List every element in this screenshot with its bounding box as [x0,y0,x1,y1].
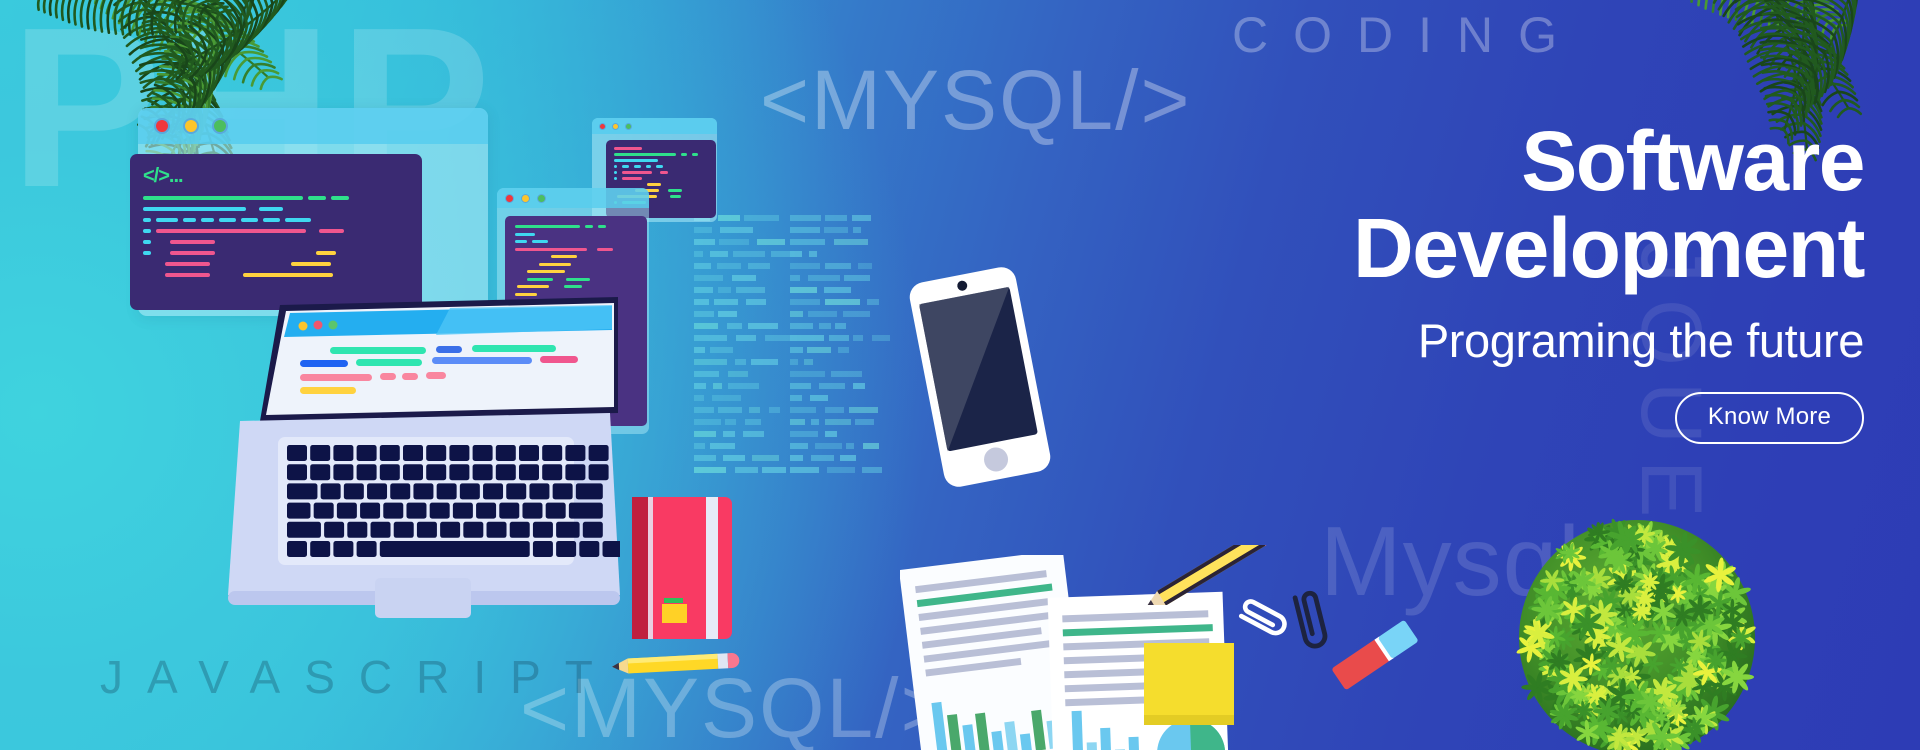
code-segment [634,165,641,168]
laptop-key [589,464,609,480]
laptop-trackpad [375,578,471,618]
pencil-lead [612,663,619,671]
code-matrix-cell [852,215,871,221]
page-title: Software Development [1164,118,1864,293]
laptop-key [371,522,391,538]
code-matrix-cell [723,455,745,461]
laptop-key [390,483,410,499]
laptop-key [357,445,377,461]
know-more-button[interactable]: Know More [1675,392,1864,444]
window-title-bar-medium [497,188,649,208]
hero-text-block: Software Development Programing the futu… [1164,118,1864,444]
code-matrix-cell [790,359,798,365]
code-segment [201,218,214,222]
laptop-key [449,464,469,480]
code-matrix-cell [872,335,890,341]
laptop-code-line [540,356,578,363]
code-matrix-cell [840,455,856,461]
code-matrix-cell [790,443,808,449]
laptop-key [542,464,562,480]
code-segment [143,196,303,200]
code-matrix-cell [710,251,728,257]
laptop-key [287,483,317,499]
sticky-note [1144,643,1234,725]
code-line [143,262,409,266]
notebook-sticker-green [664,598,683,603]
code-matrix-cell [790,263,820,269]
code-segment [241,218,258,222]
code-matrix-cell [694,395,704,401]
code-segment [331,196,349,200]
code-matrix-cell [790,395,802,401]
code-matrix-cell [712,395,741,401]
laptop-key [449,445,469,461]
watermark-mysql-top: <MYSQL/> [760,52,1192,149]
code-matrix-cell [728,371,748,377]
code-segment [614,159,658,162]
laptop-key [483,483,503,499]
laptop-key [460,483,480,499]
code-segment [259,207,283,211]
code-matrix-cell [819,383,845,389]
code-matrix-cell [829,335,849,341]
watermark-coding: CODING [1232,6,1582,64]
code-line [614,153,708,156]
code-matrix-cell [746,299,766,305]
code-segment [156,229,306,233]
code-matrix-cell [825,407,844,413]
code-matrix-cell [855,419,874,425]
laptop-key [529,483,549,499]
code-matrix-cell [853,335,863,341]
watermark-javascript: JAVASCRIPT [100,650,617,704]
maximize-icon[interactable] [625,123,632,130]
document-bar [1100,728,1111,750]
code-line [515,233,637,236]
laptop-key [556,522,579,538]
code-matrix-cell [825,431,837,437]
minimize-icon[interactable] [521,194,530,203]
code-line [143,240,409,244]
code-matrix-cell [809,251,817,257]
code-line [143,207,409,211]
laptop-dot-yellow [299,322,308,331]
bush-illustration [1515,518,1765,750]
code-matrix-cell [748,263,770,269]
close-icon[interactable] [599,123,606,130]
laptop-key [487,522,507,538]
laptop-key [510,522,530,538]
code-matrix-cell [728,383,759,389]
laptop-key [394,522,414,538]
code-matrix-cell [827,467,855,473]
code-segment [143,240,151,244]
code-segment [614,153,676,156]
code-segment [670,195,681,198]
laptop-key [437,483,457,499]
laptop-key [496,464,516,480]
laptop-key [357,541,377,557]
code-segment [308,196,326,200]
laptop-key [496,445,516,461]
code-matrix-cell [790,335,824,341]
code-segment [668,189,682,192]
code-matrix-cell [727,323,742,329]
code-matrix-cell [790,275,800,281]
code-matrix-cell [790,215,821,221]
code-matrix-cell [732,275,756,281]
window-title-bar-small [592,118,717,134]
laptop-key [473,464,493,480]
code-matrix-cell [825,263,851,269]
code-line [515,278,637,281]
code-line [614,159,708,162]
code-segment [285,218,311,222]
code-matrix-cell [849,407,878,413]
code-matrix-cell [714,299,738,305]
code-segment [646,165,651,168]
laptop-key [287,503,310,519]
code-matrix-cell [862,467,882,473]
code-matrix-cell [790,323,813,329]
laptop-key [347,522,367,538]
laptop-dot-green [329,321,338,330]
laptop-key [533,541,553,557]
code-matrix-cell [694,227,712,233]
laptop-key [476,503,496,519]
minimize-icon[interactable] [183,118,199,134]
code-line [143,273,409,277]
code-matrix-cell [824,227,848,233]
code-segment [551,255,577,258]
laptop-key [453,503,473,519]
laptop-code-line [330,347,426,354]
code-matrix-cell [710,443,735,449]
code-matrix-cell [694,467,726,473]
code-matrix-cell [790,299,820,305]
laptop-dot-red [314,321,323,330]
code-segment [143,218,151,222]
notebook-spine [632,497,648,639]
code-matrix-cell [810,395,828,401]
code-matrix-cell [694,443,705,449]
laptop-key [426,464,446,480]
code-matrix-cell [834,239,868,245]
code-segment [515,233,535,236]
code-matrix-cell [790,347,803,353]
code-matrix-cell [771,251,795,257]
code-line [143,196,409,200]
laptop-key [499,503,519,519]
palm-leaf [162,0,313,79]
laptop-key [430,503,450,519]
code-matrix-cell [710,347,733,353]
code-line [614,183,708,186]
eraser-illustration [1325,620,1425,690]
code-segment [585,225,593,228]
code-matrix-cell [853,227,861,233]
palm-leaf [1586,0,1784,27]
code-matrix-cell [694,347,705,353]
code-segment [527,278,553,281]
code-matrix-cell [743,431,764,437]
code-matrix-cell [735,359,746,365]
code-matrix-cell [790,431,818,437]
code-matrix-cell [733,251,765,257]
code-matrix-cell [790,287,817,293]
code-line [515,285,637,288]
code-line [515,248,637,251]
code-segment [598,225,606,228]
code-matrix-cell [790,407,816,413]
laptop-key [546,503,566,519]
code-matrix-cell [844,275,870,281]
laptop-key [589,445,609,461]
smartphone-illustration [900,265,1060,490]
code-segment [165,262,210,266]
code-matrix-cell [718,215,740,221]
code-matrix-cell [736,287,765,293]
laptop-key [287,541,307,557]
laptop-key [522,503,542,519]
laptop-key [333,464,353,480]
code-matrix-cell [694,419,721,425]
laptop-code-line [436,346,462,353]
code-matrix-cell [811,419,819,425]
code-matrix-cell [736,335,756,341]
code-matrix-cell [804,359,813,365]
code-window-main[interactable]: </>... [138,108,488,316]
laptop-key [579,541,599,557]
code-matrix-cell [762,467,786,473]
minimize-icon[interactable] [612,123,619,130]
laptop-key [380,464,400,480]
code-matrix-cell [808,311,837,317]
code-line [515,240,637,243]
laptop-key [519,445,539,461]
code-matrix-cell [694,263,711,269]
palm-leaf [1633,0,1850,106]
code-glyph: </>... [143,166,409,186]
code-segment [614,171,617,174]
code-line [515,270,637,273]
close-icon[interactable] [505,194,514,203]
window-title-bar [138,108,488,144]
code-matrix-cell [790,239,825,245]
laptop-code-line [300,360,348,367]
laptop-key [360,503,380,519]
code-segment [660,171,668,174]
code-matrix-cell [718,407,742,413]
code-matrix-cell [694,371,719,377]
code-matrix-cell [769,407,780,413]
code-line [614,177,708,180]
code-segment [647,183,661,186]
code-editor-area: </>... [130,154,422,310]
laptop-key [569,503,603,519]
maximize-icon[interactable] [212,118,228,134]
laptop-key [556,541,576,557]
code-segment [622,177,642,180]
laptop-key [403,445,423,461]
code-matrix-cell [790,383,811,389]
code-segment [219,218,236,222]
laptop-key [426,445,446,461]
laptop-key [413,483,433,499]
code-line [143,218,409,222]
paperclip-dark-icon [1295,592,1327,648]
code-matrix-cell [825,419,851,425]
code-line [515,263,637,266]
code-segment [566,278,590,281]
laptop-key [321,483,341,499]
code-matrix-cell [748,323,778,329]
laptop-key [603,541,620,557]
code-matrix-cell [819,323,831,329]
code-matrix-cell [838,347,849,353]
laptop-key [380,445,400,461]
code-matrix-cell [751,359,778,365]
laptop-key [324,522,344,538]
code-segment [165,273,210,277]
code-matrix-cell [853,383,865,389]
code-matrix-cell [713,383,722,389]
code-matrix-cell [790,227,820,233]
laptop-key [310,464,330,480]
code-matrix-cell [807,347,831,353]
code-matrix-cell [694,455,716,461]
code-segment [539,263,571,266]
code-segment [291,262,331,266]
maximize-icon[interactable] [537,194,546,203]
laptop-key [310,445,330,461]
code-matrix-cell [808,275,840,281]
palm-leaf [29,0,232,106]
laptop-code-line [432,357,532,364]
document-bar [1087,742,1098,750]
code-segment [316,251,336,255]
code-matrix-cell [831,371,862,377]
laptop-code-line [300,387,356,394]
code-matrix-cell [694,239,715,245]
laptop-code-line [356,359,422,366]
laptop-key [287,464,307,480]
code-segment [614,165,617,168]
close-icon[interactable] [154,118,170,134]
code-matrix-cell [867,299,879,305]
code-matrix-cell [811,455,834,461]
laptop-key [380,541,530,557]
code-matrix-cell [723,431,735,437]
laptop-key [417,522,437,538]
code-matrix-cell [694,383,706,389]
code-matrix-cell [815,443,842,449]
laptop-key [406,503,426,519]
notebook-sticker-yellow [662,604,687,623]
code-matrix-cell [790,371,825,377]
code-line [143,251,409,255]
code-matrix-cell [694,335,727,341]
laptop-code-line [472,345,556,352]
code-segment [515,240,527,243]
code-line [515,255,637,258]
code-segment [143,229,151,233]
code-matrix-cell [790,251,802,257]
code-matrix-cell [735,467,758,473]
laptop-key [553,483,573,499]
code-matrix-cell [790,455,803,461]
code-matrix-cell [694,407,714,413]
code-matrix-cell [725,419,736,425]
code-matrix-cell [744,215,779,221]
code-matrix-cell [790,467,819,473]
laptop-key [565,464,585,480]
code-segment [143,207,246,211]
laptop-key [583,522,603,538]
laptop-key [344,483,364,499]
code-matrix-cell [694,251,703,257]
code-matrix-cell [858,263,872,269]
code-segment [517,285,549,288]
code-segment [243,273,333,277]
code-matrix-cell [694,359,727,365]
laptop-key [403,464,423,480]
code-matrix-cell [863,443,879,449]
code-matrix-cell [717,263,741,269]
code-line [614,165,708,168]
code-segment [622,165,629,168]
code-segment [263,218,280,222]
laptop-code-line [402,373,418,380]
code-matrix-cell [718,311,737,317]
code-matrix-cell [749,407,760,413]
code-segment [681,153,687,156]
laptop-key [314,503,334,519]
code-segment [656,165,663,168]
laptop-key [333,541,353,557]
code-segment [170,251,215,255]
code-matrix-cell [694,431,716,437]
laptop-key [506,483,526,499]
code-segment [183,218,196,222]
laptop-code-line [380,373,396,380]
code-matrix-cell [790,311,803,317]
code-segment [532,240,548,243]
code-matrix-cell [757,239,785,245]
laptop-key [310,541,330,557]
code-line [515,225,637,228]
laptop-key [287,522,321,538]
code-segment [692,153,698,156]
laptop-illustration [200,295,620,635]
laptop-key [333,445,353,461]
code-matrix-cell [825,299,860,305]
notebook-elastic [706,497,718,639]
code-matrix-cell [745,419,761,425]
laptop-code-line [426,372,446,379]
laptop-key [576,483,603,499]
code-segment [614,177,617,180]
code-segment [515,225,580,228]
code-matrix-cell [694,299,709,305]
software-development-banner: PHP CODING <MYSQL/> <MYSQL/> JAVASCRIPT … [0,0,1920,750]
code-segment [614,147,642,150]
code-matrix-cell [835,323,846,329]
code-line [614,147,708,150]
document-bar [1129,737,1140,750]
code-matrix-cell [719,239,749,245]
code-matrix-cell [694,287,713,293]
